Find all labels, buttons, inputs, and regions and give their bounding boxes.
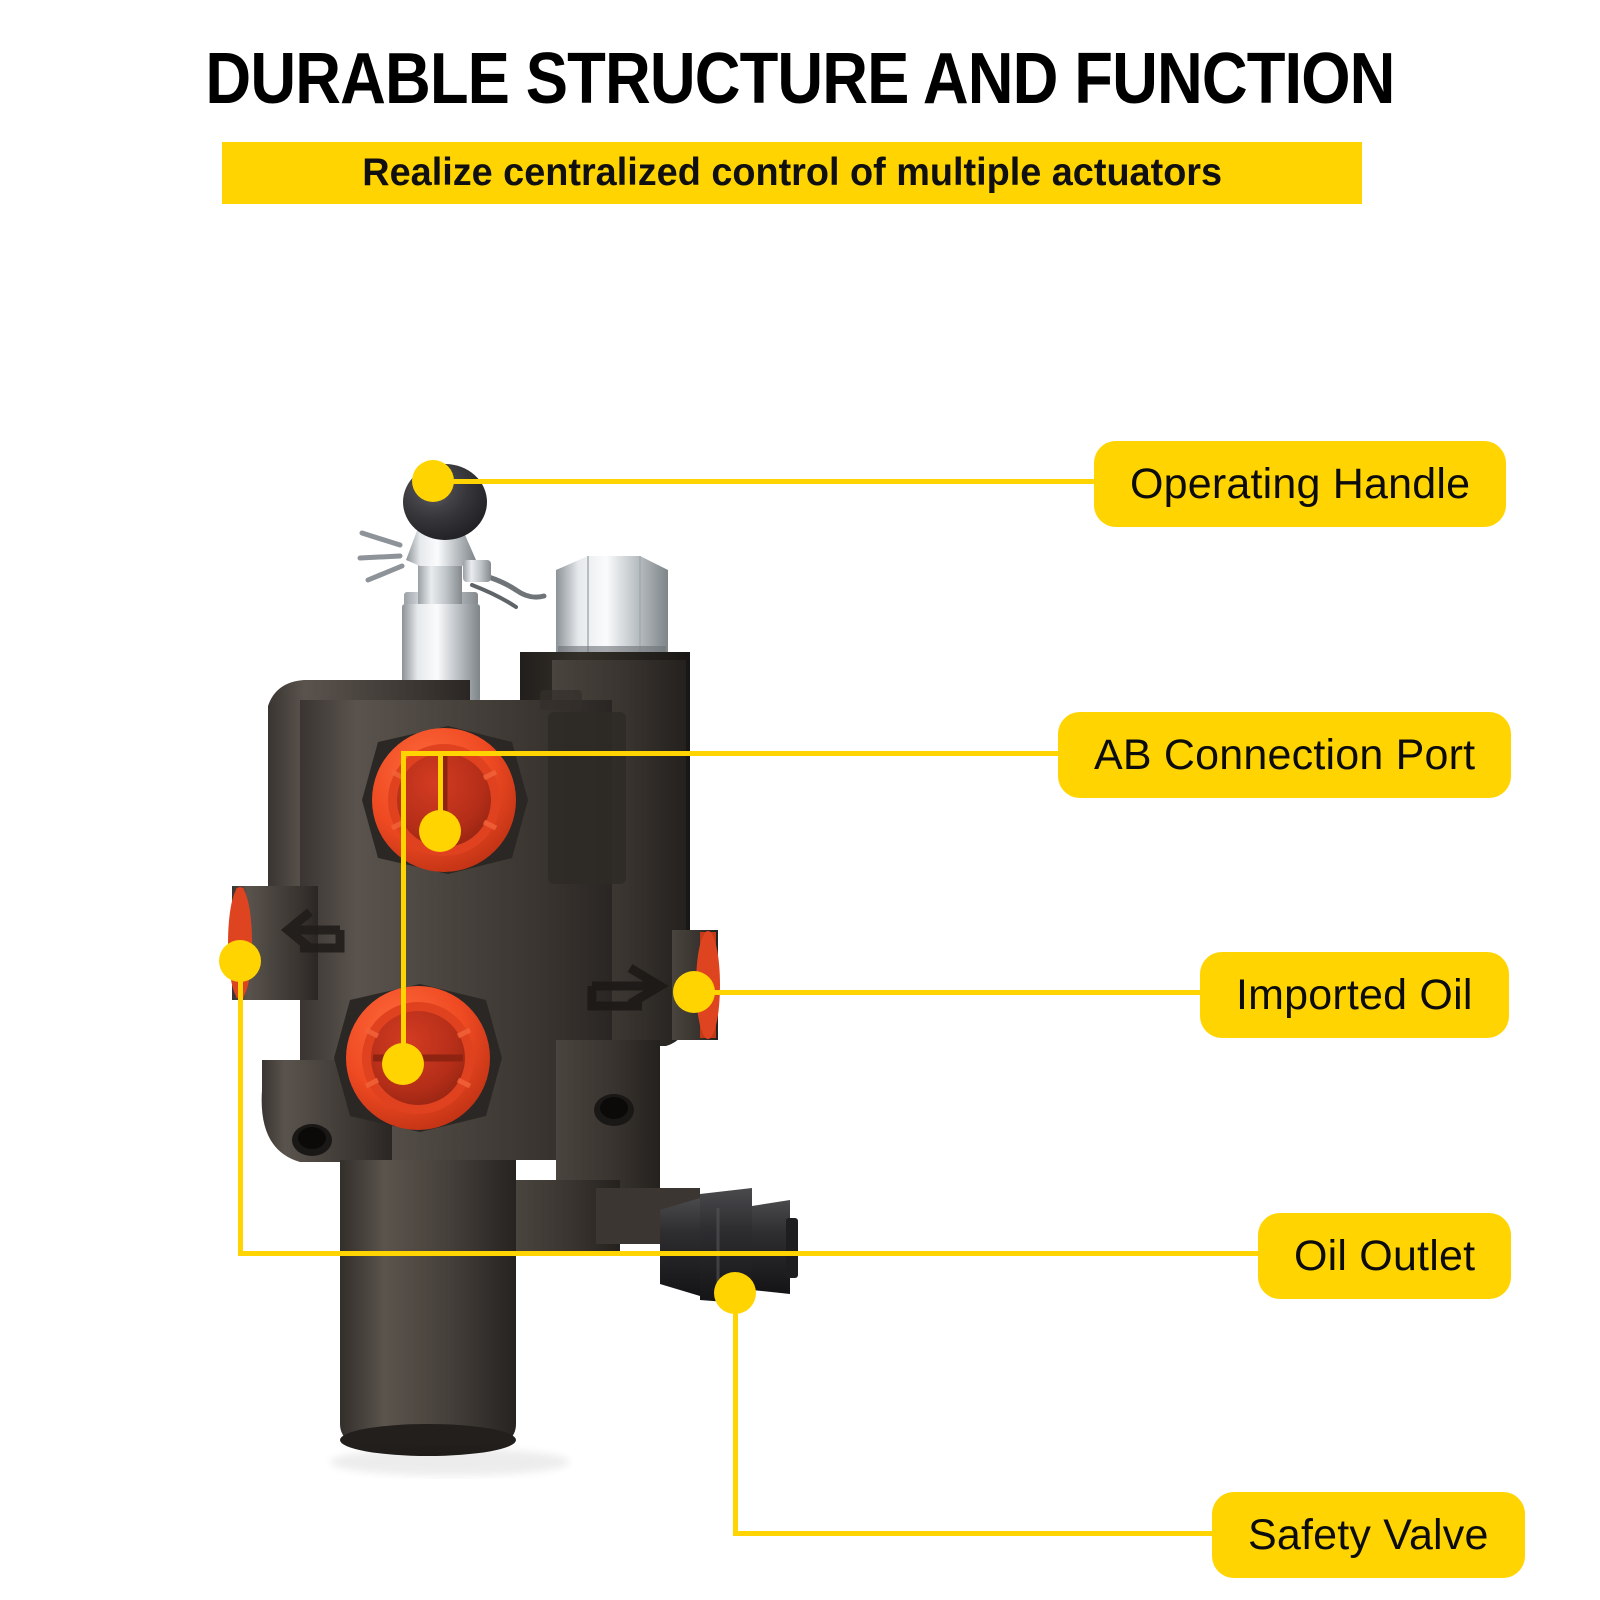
- leader-line-ab-port: [401, 751, 1061, 756]
- hex-nut-top: [556, 556, 668, 656]
- leader-dot-safety-valve: [714, 1272, 756, 1314]
- leader-line-safety-valve-vertical: [733, 1293, 738, 1536]
- oil-outlet-tube: [340, 1160, 516, 1452]
- callout-safety-valve[interactable]: Safety Valve: [1212, 1492, 1525, 1578]
- product-image-hydraulic-valve: [0, 0, 1600, 1600]
- ab-port-upper: [362, 726, 528, 874]
- leader-line-ab-port-branch-lower: [401, 751, 406, 1069]
- callout-label-operating-handle: Operating Handle: [1130, 460, 1470, 509]
- leader-line-imported-oil: [694, 990, 1206, 995]
- callout-oil-outlet[interactable]: Oil Outlet: [1258, 1213, 1511, 1299]
- leader-line-safety-valve-horizontal: [733, 1531, 1223, 1536]
- infographic-canvas: DURABLE STRUCTURE AND FUNCTION Realize c…: [0, 0, 1600, 1600]
- leader-dot-ab-port-upper: [419, 810, 461, 852]
- leader-dot-imported-oil-right: [673, 971, 715, 1013]
- callout-imported-oil[interactable]: Imported Oil: [1200, 952, 1509, 1038]
- leader-line-operating-handle: [433, 479, 1094, 484]
- leader-line-oil-outlet-horizontal: [238, 1251, 1268, 1256]
- leader-dot-oil-outlet: [219, 940, 261, 982]
- callout-label-safety-valve: Safety Valve: [1248, 1511, 1489, 1560]
- callout-label-oil-outlet: Oil Outlet: [1294, 1232, 1475, 1281]
- callout-label-imported-oil: Imported Oil: [1236, 971, 1473, 1020]
- callout-label-ab-connection-port: AB Connection Port: [1094, 731, 1475, 780]
- leader-line-oil-outlet-vertical: [238, 960, 243, 1253]
- leader-dot-operating-handle: [412, 460, 454, 502]
- operating-handle-assembly: [360, 464, 544, 714]
- callout-ab-connection-port[interactable]: AB Connection Port: [1058, 712, 1511, 798]
- callout-operating-handle[interactable]: Operating Handle: [1094, 441, 1506, 527]
- leader-dot-ab-port-lower: [382, 1043, 424, 1085]
